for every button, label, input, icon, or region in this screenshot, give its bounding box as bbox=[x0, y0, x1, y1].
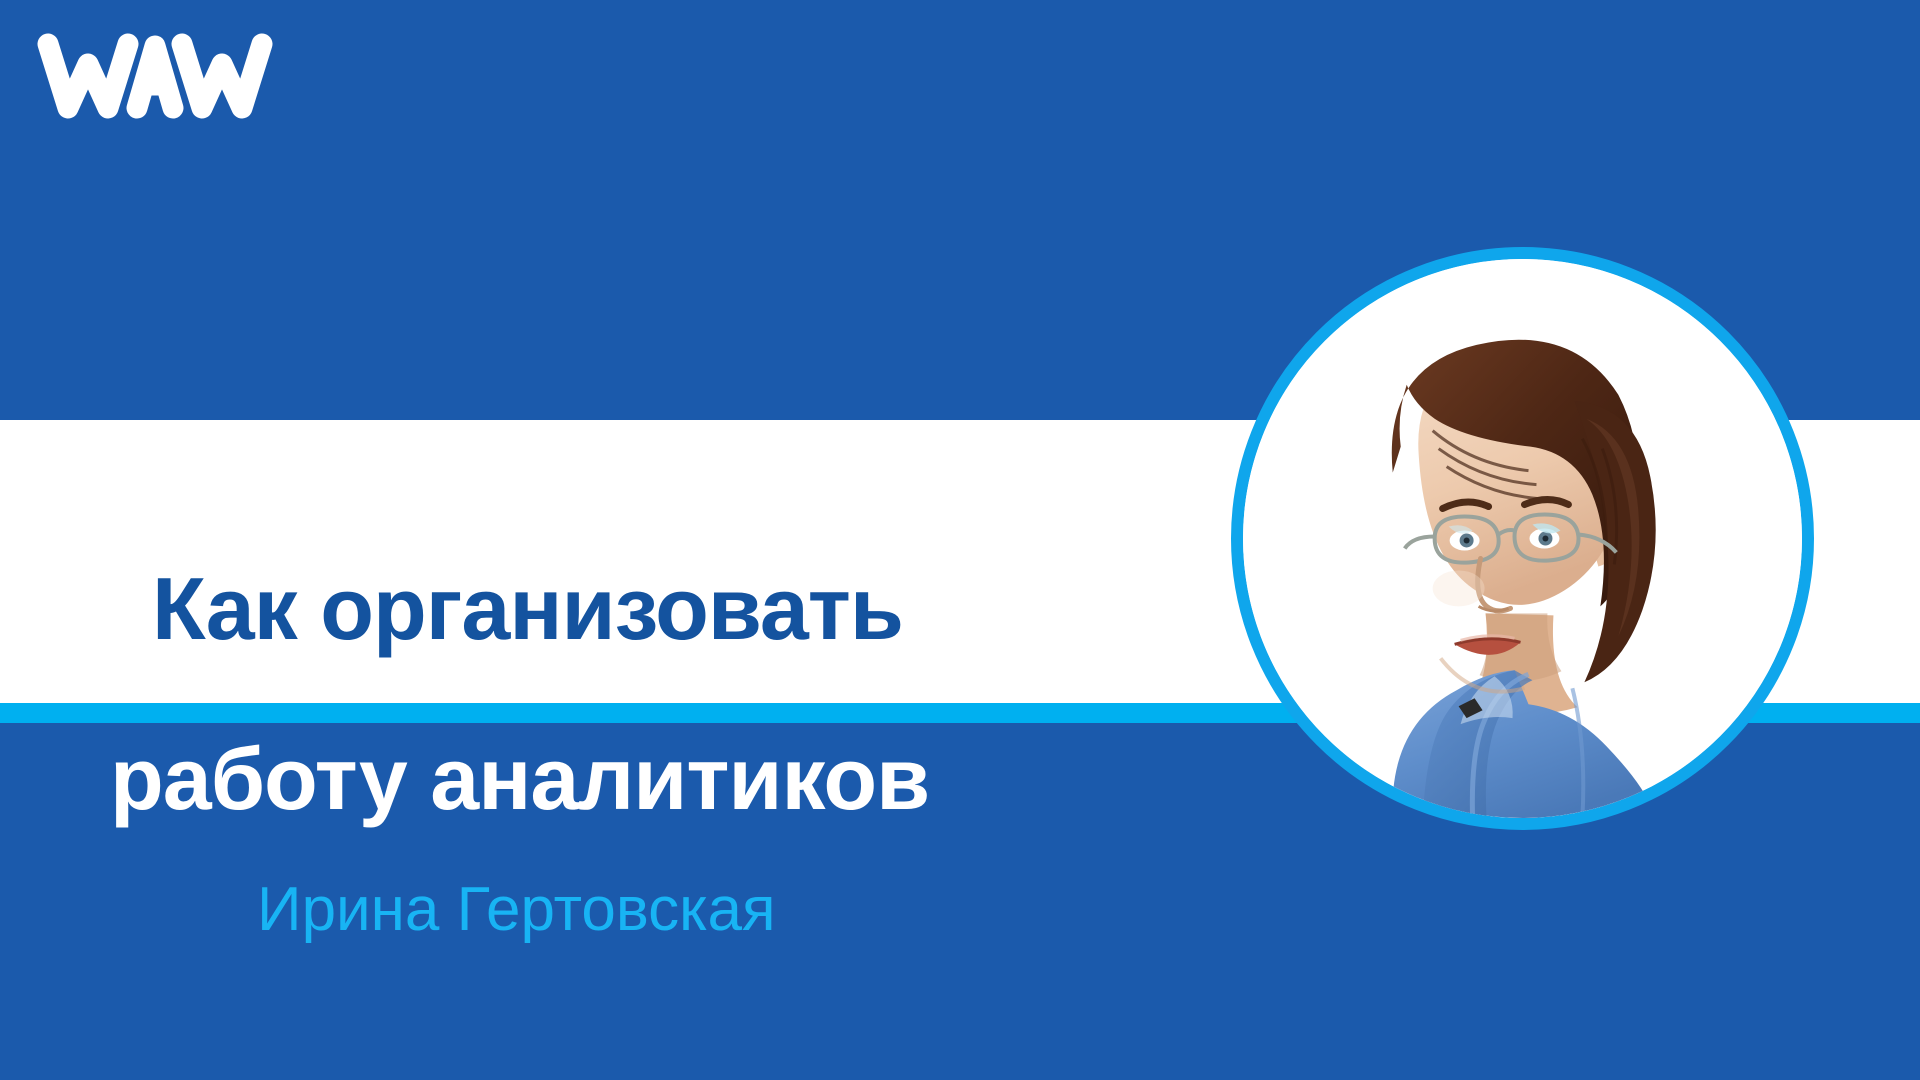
presenter-photo bbox=[1243, 259, 1802, 818]
avatar-ring bbox=[1231, 247, 1814, 830]
presenter-avatar bbox=[1231, 247, 1814, 830]
slide-title-line-1: Как организовать bbox=[152, 565, 903, 653]
presenter-name: Ирина Гертовская bbox=[257, 879, 776, 941]
waw-logo[interactable] bbox=[34, 30, 274, 122]
slide-title-line-2: работу аналитиков bbox=[110, 735, 929, 823]
presentation-slide: Как организовать работу аналитиков Ирина… bbox=[0, 0, 1920, 1080]
